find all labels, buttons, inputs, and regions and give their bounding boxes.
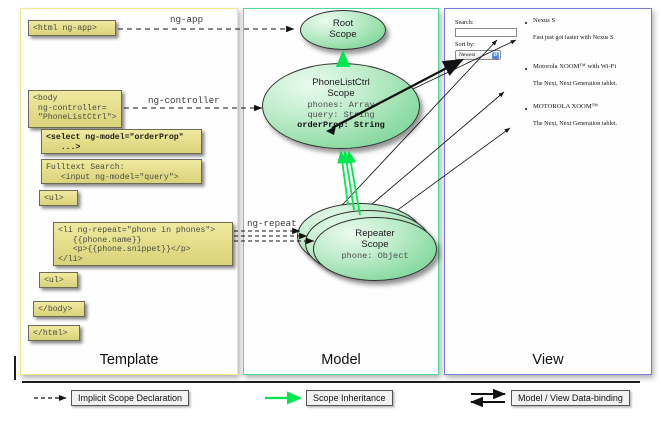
scope-repeater: Repeater Scope phone: Object: [313, 217, 437, 281]
panel-model-label: Model: [244, 352, 438, 368]
view-search-input[interactable]: [455, 28, 517, 37]
scope-root: Root Scope: [300, 10, 386, 50]
edge-label-ng-controller: ng-controller: [148, 95, 220, 106]
scope-root-title-line2: Scope: [301, 29, 385, 40]
scope-prop-orderprop: orderProp: String: [263, 121, 419, 131]
scope-phonelistctrl-title-line1: PhoneListCtrl: [263, 77, 419, 88]
legend-item-implicit-scope-declaration: Implicit Scope Declaration: [71, 390, 189, 406]
chevron-down-icon: ⇵: [492, 52, 499, 59]
view-phone-name: MOTOROLA XOOM™: [533, 103, 598, 110]
scope-repeater-props: phone: Object: [314, 252, 436, 262]
panel-template-label: Template: [21, 352, 237, 368]
code-box-html-tag: <html ng-app>: [28, 20, 116, 36]
view-sort-select[interactable]: Newest ⇵: [455, 50, 501, 60]
view-phone-snippet: The Next, Next Generation tablet.: [533, 80, 617, 87]
code-box-li-repeat: <li ng-repeat="phone in phones"> {{phone…: [53, 222, 233, 266]
scope-phonelistctrl-props: phones: Array query: String orderProp: S…: [263, 101, 419, 131]
code-box-body-controller: <body ng-controller= "PhoneListCtrl">: [28, 90, 122, 128]
scope-phonelistctrl-title-line2: Scope: [263, 88, 419, 99]
code-box-html-close: </html>: [28, 325, 80, 341]
scope-repeater-title-line2: Scope: [314, 239, 436, 250]
scope-prop-phone: phone: Object: [314, 252, 436, 262]
code-box-ul-open: <ul>: [39, 190, 78, 206]
diagram-root: Template Model View <html ng-app> <body …: [0, 0, 661, 425]
view-phone-name: Nexus S: [533, 17, 555, 24]
code-box-fulltext-search: Fulltext Search: <input ng-model="query"…: [41, 159, 202, 184]
legend-item-scope-inheritance: Scope Inheritance: [306, 390, 393, 406]
view-sort-label: Sort by:: [455, 41, 475, 48]
scope-phone-list-ctrl: PhoneListCtrl Scope phones: Array query:…: [262, 63, 420, 149]
code-box-ul-close: <ul>: [39, 272, 78, 288]
frame-left-bar: [14, 356, 16, 380]
code-box-select: <select ng-model="orderProp" ...>: [41, 129, 202, 154]
panel-view-label: View: [445, 352, 651, 368]
scope-repeater-title-line1: Repeater: [314, 228, 436, 239]
legend-item-model-view-data-binding: Model / View Data-binding: [511, 390, 630, 406]
legend-divider: [22, 381, 640, 383]
edge-label-ng-app: ng-app: [170, 14, 203, 25]
view-phone-snippet: Fast just got faster with Nexus S.: [533, 34, 615, 41]
view-phone-snippet: The Next, Next Generation tablet.: [533, 120, 617, 127]
view-phone-name: Motorola XOOM™ with Wi-Fi: [533, 63, 616, 70]
edge-label-ng-repeat: ng-repeat: [247, 218, 297, 229]
code-box-body-close: </body>: [33, 301, 85, 317]
scope-root-title-line1: Root: [301, 18, 385, 29]
view-sort-select-value: Newest: [459, 52, 475, 58]
view-search-label: Search:: [455, 19, 474, 26]
